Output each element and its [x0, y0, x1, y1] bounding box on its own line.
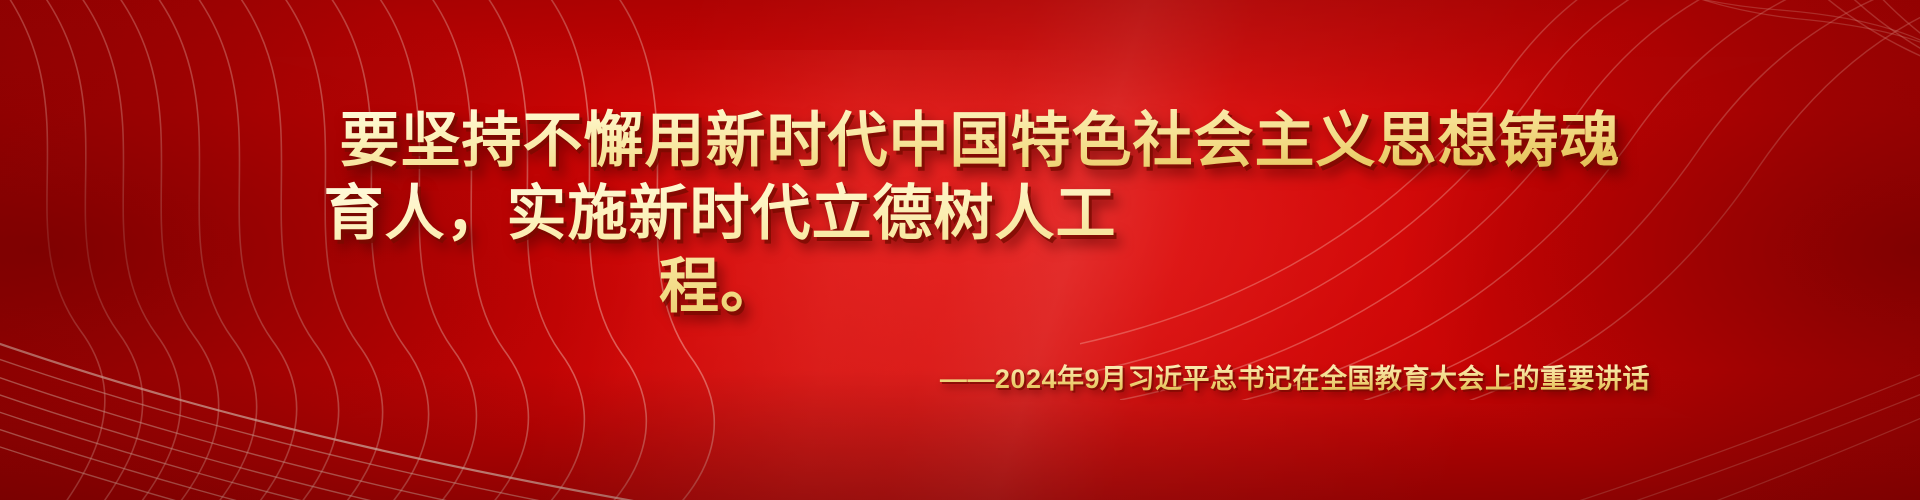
speech-attribution: ——2024年9月习近平总书记在全国教育大会上的重要讲话: [120, 357, 1800, 396]
headline-line-2: 育人，实施新时代立德树人工程。: [290, 177, 1630, 323]
banner-content: 要坚持不懈用新时代中国特色社会主义思想铸魂 育人，实施新时代立德树人工程。 ——…: [0, 0, 1920, 500]
propaganda-banner: 要坚持不懈用新时代中国特色社会主义思想铸魂 育人，实施新时代立德树人工程。 ——…: [0, 0, 1920, 500]
headline-line-1: 要坚持不懈用新时代中国特色社会主义思想铸魂: [300, 104, 1621, 177]
